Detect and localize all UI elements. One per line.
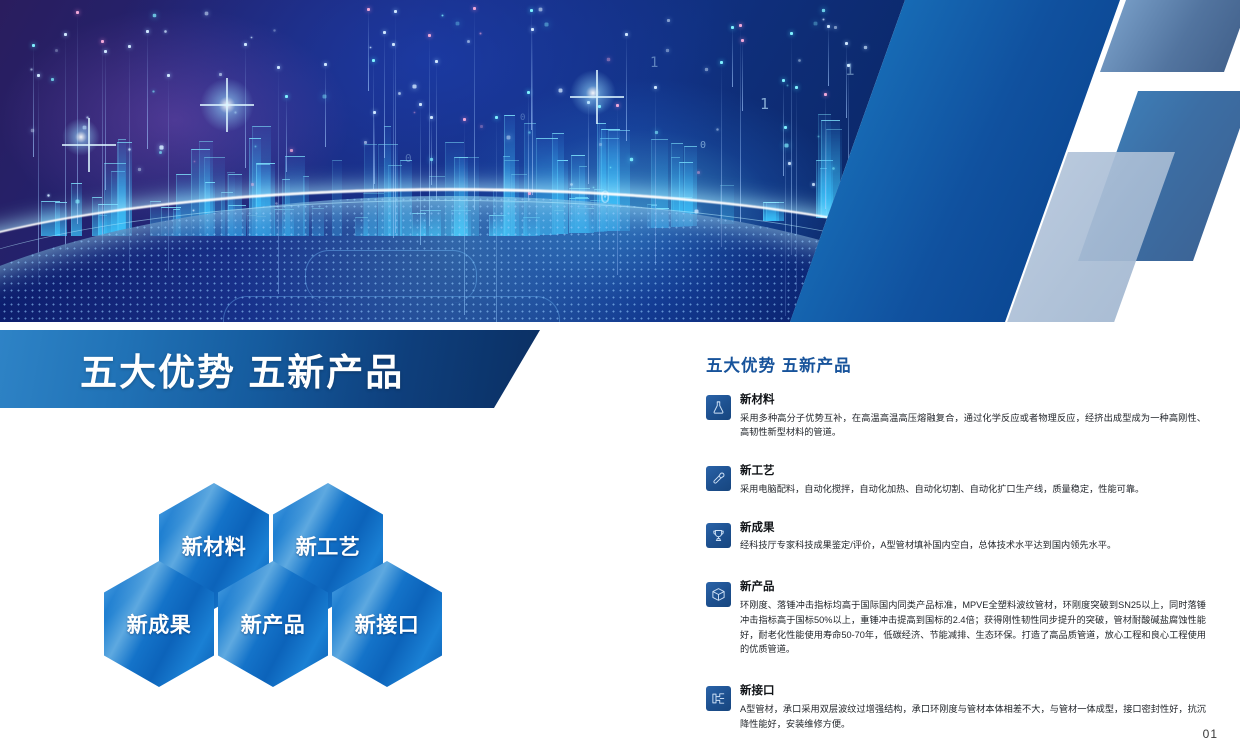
feature-desc: 采用多种高分子优势互补，在高温高温高压熔融复合，通过化学反应或者物理反应，经挤出…: [740, 411, 1206, 441]
feature-item-new-process: 新工艺 采用电脑配料，自动化搅拌，自动化加热、自动化切割、自动化扩口生产线，质量…: [706, 464, 1206, 496]
feature-item-new-achievement: 新成果 经科技厅专家科技成果鉴定/评价，A型管材填补国内空白，总体技术水平达到国…: [706, 521, 1206, 553]
lens-flare-right-icon: [570, 70, 616, 116]
flask-icon: [706, 395, 731, 420]
feature-desc: 经科技厅专家科技成果鉴定/评价，A型管材填补国内空白，总体技术水平达到国内领先水…: [740, 538, 1206, 553]
decor-shape-tab: [1100, 0, 1240, 72]
banner-title: 五大优势 五新产品: [80, 342, 404, 396]
pipe-joint-icon: [706, 686, 731, 711]
hexagon-label: 新工艺: [296, 531, 361, 561]
lens-flare-icon: [200, 78, 254, 132]
hero-banner-image: 01010100: [0, 0, 1240, 322]
feature-item-new-material: 新材料 采用多种高分子优势互补，在高温高温高压熔融复合，通过化学反应或者物理反应…: [706, 393, 1206, 440]
feature-title: 新接口: [740, 684, 1206, 700]
features-panel-title: 五大优势 五新产品: [706, 352, 1206, 376]
lens-flare-small-icon: [62, 118, 100, 156]
features-panel: 五大优势 五新产品 新材料 采用多种高分子优势互补，在高温高温高压熔融复合，通过…: [706, 352, 1206, 747]
feature-title: 新产品: [740, 580, 1206, 596]
feature-title: 新材料: [740, 393, 1206, 409]
hexagon-label: 新成果: [127, 609, 192, 639]
feature-body: 新工艺 采用电脑配料，自动化搅拌，自动化加热、自动化切割、自动化扩口生产线，质量…: [740, 464, 1206, 496]
cube-icon: [706, 582, 731, 607]
feature-desc: 环刚度、落锤冲击指标均高于国际国内同类产品标准，MPVE全塑料波纹管材，环刚度突…: [740, 598, 1206, 658]
hero-city-scene: 01010100: [0, 0, 905, 322]
feature-item-new-product: 新产品 环刚度、落锤冲击指标均高于国际国内同类产品标准，MPVE全塑料波纹管材，…: [706, 580, 1206, 657]
hexagon-label: 新接口: [355, 609, 420, 639]
feature-desc: 采用电脑配料，自动化搅拌，自动化加热、自动化切割、自动化扩口生产线，质量稳定，性…: [740, 482, 1206, 497]
page-number: 01: [1203, 727, 1218, 741]
poster-page: 01010100 五大优势 五新产品 新材料 新工艺 新成果: [0, 0, 1240, 753]
feature-body: 新接口 A型管材，承口采用双层波纹过增强结构，承口环刚度与管材本体相差不大，与管…: [740, 684, 1206, 731]
trophy-icon: [706, 523, 731, 548]
hexagon-cluster: 新材料 新工艺 新成果 新产品 新接口: [104, 483, 434, 688]
feature-title: 新成果: [740, 521, 1206, 537]
feature-title: 新工艺: [740, 464, 1206, 480]
feature-body: 新产品 环刚度、落锤冲击指标均高于国际国内同类产品标准，MPVE全塑料波纹管材，…: [740, 580, 1206, 657]
tool-icon: [706, 466, 731, 491]
feature-desc: A型管材，承口采用双层波纹过增强结构，承口环刚度与管材本体相差不大，与管材一体成…: [740, 702, 1206, 732]
hexagon-label: 新材料: [182, 531, 247, 561]
feature-item-new-interface: 新接口 A型管材，承口采用双层波纹过增强结构，承口环刚度与管材本体相差不大，与管…: [706, 684, 1206, 731]
section-banner: 五大优势 五新产品: [0, 330, 540, 408]
hexagon-label: 新产品: [241, 609, 306, 639]
feature-body: 新成果 经科技厅专家科技成果鉴定/评价，A型管材填补国内空白，总体技术水平达到国…: [740, 521, 1206, 553]
feature-body: 新材料 采用多种高分子优势互补，在高温高温高压熔融复合，通过化学反应或者物理反应…: [740, 393, 1206, 440]
